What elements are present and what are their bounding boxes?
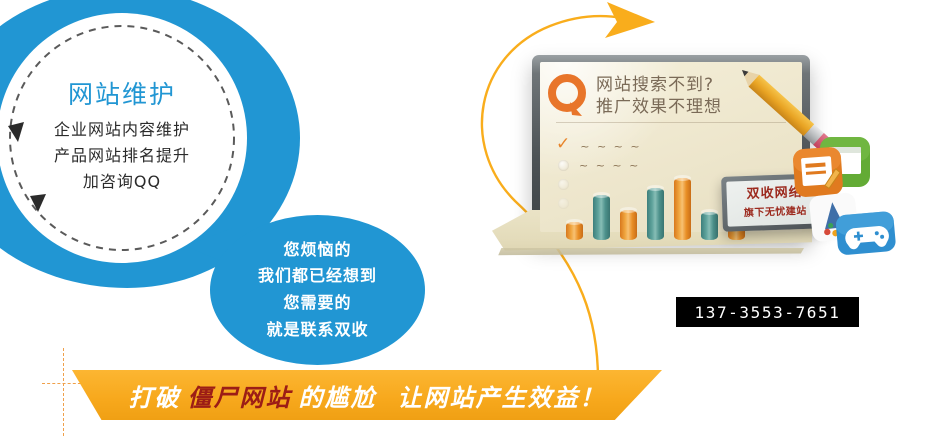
headline-line-1: 网站搜索不到?	[596, 74, 722, 96]
speech-bubble-text: 您烦恼的 我们都已经想到 您需要的 就是联系双收	[210, 215, 425, 365]
q-search-logo-icon	[548, 74, 588, 119]
bubble-line-3: 您需要的	[283, 290, 351, 317]
banner-part-4: 让网站产生效益！	[398, 378, 606, 413]
circle-icon	[558, 160, 569, 171]
bubble-line-4: 就是联系双收	[266, 317, 368, 344]
screen-divider	[556, 122, 786, 123]
poster-canvas: 网站维护 企业网站内容维护 产品网站排名提升 加咨询QQ 您烦恼的 我们都已经想…	[0, 0, 950, 437]
phone-number-text: 137-3553-7651	[694, 303, 840, 322]
chart-bar	[593, 195, 610, 240]
chart-bar	[701, 212, 718, 240]
callout-line-2: 产品网站排名提升	[54, 143, 190, 169]
banner-part-1: 打破	[129, 378, 181, 413]
phone-number-badge: 137-3553-7651	[676, 297, 859, 327]
gamepad-app-icon[interactable]	[830, 205, 907, 267]
check-icon: ✓	[556, 136, 570, 153]
dashed-crosshair-icon	[63, 348, 64, 436]
checklist-text-1: ~ ~ ~ ~	[580, 140, 641, 153]
checklist-text-2: ~ ~ ~ ~	[579, 159, 640, 172]
bubble-line-2: 我们都已经想到	[258, 263, 377, 290]
callout-line-3: 加咨询QQ	[83, 169, 161, 195]
bubble-line-1: 您烦恼的	[283, 237, 351, 264]
chart-bar	[674, 178, 691, 240]
screen-headline: 网站搜索不到? 推广效果不理想	[596, 74, 722, 119]
banner-part-2: 僵尸网站	[188, 378, 292, 413]
headline-line-2: 推广效果不理想	[596, 96, 722, 118]
checklist-item: ~ ~ ~ ~	[558, 157, 642, 173]
banner-part-3: 的尴尬	[299, 378, 377, 413]
chart-bar	[566, 222, 583, 240]
chart-bar	[647, 188, 664, 240]
callout-line-1: 企业网站内容维护	[54, 117, 190, 143]
callout-title: 网站维护	[68, 81, 176, 109]
page-curl-edge	[492, 248, 804, 258]
bottom-banner-text: 打破 僵尸网站 的尴尬 让网站产生效益！	[72, 370, 662, 420]
checklist-item: ✓ ~ ~ ~ ~	[558, 138, 642, 154]
chart-bar	[620, 210, 637, 240]
